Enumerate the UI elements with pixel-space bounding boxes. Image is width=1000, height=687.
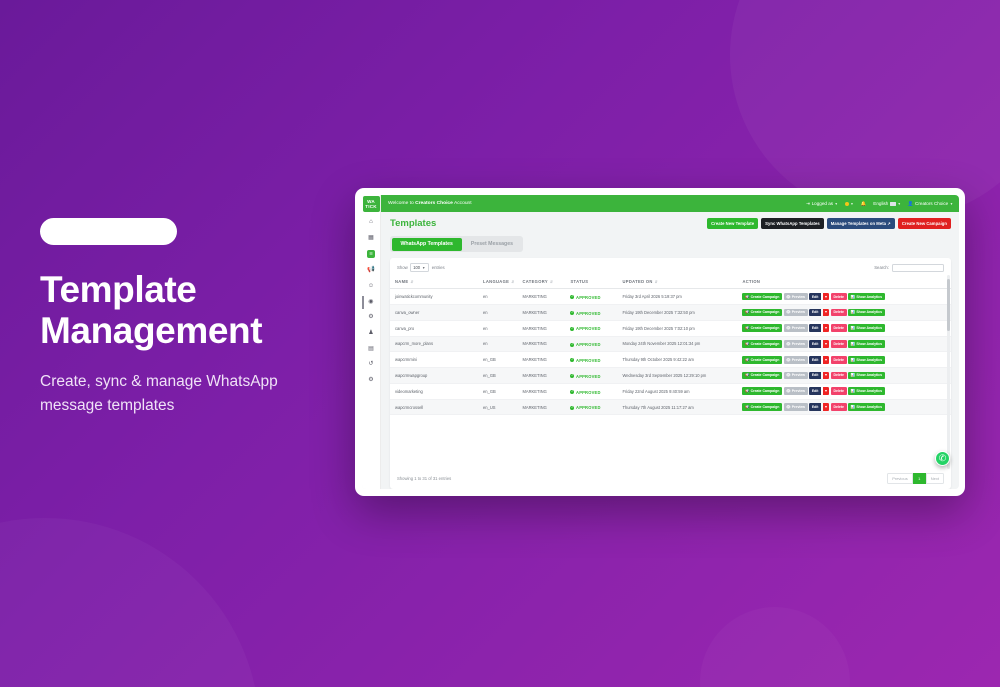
entries-select[interactable]: 100▼ (410, 263, 429, 272)
eye-icon: 👁 (786, 342, 790, 346)
column-header-action: ACTION (737, 275, 951, 289)
show-entries-control: Show 100▼ entries (397, 263, 445, 272)
promo-badge (40, 218, 177, 245)
create-campaign-label: Create Campaign (751, 405, 780, 409)
table-controls: Show 100▼ entries Search: (390, 258, 951, 275)
entries-label: entries (432, 265, 445, 270)
sidebar-item-contacts[interactable]: ☺ (362, 283, 380, 289)
check-icon: ✓ (570, 343, 574, 347)
show-analytics-label: Show Analytics (856, 373, 882, 377)
preview-button[interactable]: 👁Preview (784, 387, 808, 395)
show-analytics-label: Show Analytics (856, 342, 882, 346)
cell-status: ✓APPROVED (565, 336, 617, 352)
row-actions: 📢Create Campaign👁PreviewEdit▼Delete📊Show… (742, 372, 948, 380)
delete-label: Delete (833, 342, 844, 346)
edit-label: Edit (812, 358, 819, 362)
sort-icon: ⇵ (655, 280, 658, 284)
cell-name: wapcrm_more_plans (390, 336, 478, 352)
topbar: Welcome to Creators Choice Account ⇥Logg… (381, 195, 959, 212)
sort-icon: ⇵ (410, 280, 413, 284)
grid-icon: ▦ (368, 235, 374, 241)
background-circle-bottom-left (0, 518, 260, 687)
chat-icon: ◉ (368, 299, 373, 305)
table-row: wapcrmminien_GBMARKETING✓APPROVEDThursda… (390, 352, 951, 368)
create-campaign-button[interactable]: 📢Create Campaign (742, 324, 782, 332)
create-campaign-button[interactable]: 📢Create Campaign (742, 372, 782, 380)
edit-dropdown-toggle[interactable]: ▼ (823, 309, 830, 317)
cell-language: en_US (478, 399, 517, 415)
delete-button[interactable]: Delete (831, 309, 847, 317)
cell-updated-on: Thursday 9th October 2025 9:42:22 am (617, 352, 737, 368)
user-menu[interactable]: 👤Creators Choice▼ (908, 201, 953, 207)
edit-label: Edit (812, 310, 819, 314)
cell-action: 📢Create Campaign👁PreviewEdit▼Delete📊Show… (737, 336, 951, 352)
show-analytics-button[interactable]: 📊Show Analytics (848, 293, 884, 301)
entries-info: Showing 1 to 31 of 31 entries (397, 476, 451, 481)
megaphone-icon: 📢 (745, 389, 749, 393)
create-new-template-button[interactable]: Create New Template (707, 218, 758, 228)
cell-action: 📢Create Campaign👁PreviewEdit▼Delete📊Show… (737, 383, 951, 399)
column-header-category[interactable]: CATEGORY⇵ (517, 275, 565, 289)
scrollbar-thumb[interactable] (947, 279, 950, 331)
status-label: APPROVED (576, 295, 601, 300)
table-row: joinwatickcommunityenMARKETING✓APPROVEDF… (390, 289, 951, 305)
cell-name: wapcrmcrossell (390, 399, 478, 415)
status-badge: ✓APPROVED (570, 342, 600, 347)
column-label-action: ACTION (742, 279, 760, 284)
delete-label: Delete (833, 389, 844, 393)
status-label: APPROVED (576, 405, 601, 410)
status-badge: ✓APPROVED (570, 358, 600, 363)
megaphone-icon: 📢 (745, 342, 749, 346)
show-analytics-label: Show Analytics (856, 326, 882, 330)
delete-button[interactable]: Delete (831, 293, 847, 301)
pagination-next[interactable]: Next (926, 473, 944, 484)
cell-language: en_GB (478, 383, 517, 399)
welcome-suffix: Account (453, 201, 472, 206)
create-campaign-button[interactable]: 📢Create Campaign (742, 387, 782, 395)
theme-menu[interactable]: ▼ (845, 202, 854, 206)
status-badge: ✓APPROVED (570, 326, 600, 331)
show-analytics-button[interactable]: 📊Show Analytics (848, 309, 884, 317)
pagination-previous[interactable]: Previous (887, 473, 913, 484)
sidebar-item-grid[interactable]: ▦ (362, 235, 380, 241)
user-icon: 👤 (908, 201, 914, 207)
sidebar-item-chats[interactable]: ◉ (362, 299, 380, 305)
chevron-down-icon: ▼ (898, 202, 901, 206)
status-label: APPROVED (576, 311, 601, 316)
create-campaign-label: Create Campaign (751, 310, 780, 314)
sidebar: WA TICK ⌂ ▦ ☰ 📢 ☺ ◉ ⚙ ♟ ▤ ↺ ⚙ (362, 195, 381, 489)
status-label: APPROVED (576, 374, 601, 379)
preview-button[interactable]: 👁Preview (784, 324, 808, 332)
edit-button[interactable]: Edit (809, 403, 821, 411)
cell-updated-on: Friday 3rd April 2026 5:19:37 pm (617, 289, 737, 305)
show-analytics-button[interactable]: 📊Show Analytics (848, 372, 884, 380)
show-analytics-label: Show Analytics (856, 405, 882, 409)
sidebar-item-history[interactable]: ↺ (362, 361, 380, 367)
edit-dropdown-toggle[interactable]: ▼ (823, 324, 830, 332)
check-icon: ✓ (570, 295, 574, 299)
table-body: joinwatickcommunityenMARKETING✓APPROVEDF… (390, 289, 951, 415)
chevron-down-icon: ▼ (850, 202, 853, 206)
logged-as-label: Logged as (812, 201, 833, 206)
cell-name: joinwatickcommunity (390, 289, 478, 305)
edit-dropdown-toggle[interactable]: ▼ (823, 356, 830, 364)
cell-name: wapcrmmini (390, 352, 478, 368)
edit-dropdown-toggle[interactable]: ▼ (823, 293, 830, 301)
edit-button[interactable]: Edit (809, 356, 821, 364)
cell-language: en (478, 304, 517, 320)
caret-down-icon: ▼ (824, 405, 827, 409)
delete-label: Delete (833, 310, 844, 314)
table-scroll-region: NAME⇵ LANGUAGE⇵ CATEGORY⇵ STATUS UPDATED… (390, 275, 951, 468)
sidebar-item-campaigns[interactable]: 📢 (362, 267, 380, 273)
column-header-status[interactable]: STATUS (565, 275, 617, 289)
check-icon: ✓ (570, 358, 574, 362)
caret-down-icon: ▼ (824, 373, 827, 377)
create-campaign-button[interactable]: 📢Create Campaign (742, 403, 782, 411)
tab-bar: WhatsApp Templates Preset Messages (390, 236, 523, 252)
user-label: Creators Choice (915, 201, 948, 206)
edit-label: Edit (812, 295, 819, 299)
templates-icon: ☰ (367, 250, 375, 257)
cell-language: en_GB (478, 368, 517, 384)
welcome-message: Welcome to Creators Choice Account (388, 201, 472, 206)
cell-status: ✓APPROVED (565, 383, 617, 399)
edit-label: Edit (812, 389, 819, 393)
people-icon: ☺ (368, 283, 374, 289)
check-icon: ✓ (570, 311, 574, 315)
promo-panel: Template Management Create, sync & manag… (40, 218, 340, 418)
create-campaign-label: Create Campaign (751, 342, 780, 346)
megaphone-icon: 📢 (745, 310, 749, 314)
chart-icon: 📊 (851, 295, 855, 299)
row-actions: 📢Create Campaign👁PreviewEdit▼Delete📊Show… (742, 356, 948, 364)
cell-category: MARKETING (517, 289, 565, 305)
preview-button[interactable]: 👁Preview (784, 372, 808, 380)
cell-category: MARKETING (517, 399, 565, 415)
edit-button[interactable]: Edit (809, 387, 821, 395)
preview-label: Preview (792, 405, 805, 409)
create-campaign-button[interactable]: 📢Create Campaign (742, 340, 782, 348)
promo-subline: Create, sync & manage WhatsApp message t… (40, 370, 340, 418)
delete-button[interactable]: Delete (831, 356, 847, 364)
delete-label: Delete (833, 358, 844, 362)
show-analytics-label: Show Analytics (856, 310, 882, 314)
delete-label: Delete (833, 405, 844, 409)
show-analytics-label: Show Analytics (856, 358, 882, 362)
app-logo: WA TICK (363, 196, 380, 212)
page-title: Templates (390, 218, 436, 229)
cell-updated-on: Monday 24th November 2025 12:01:34 pm (617, 336, 737, 352)
app-viewport: WA TICK ⌂ ▦ ☰ 📢 ☺ ◉ ⚙ ♟ ▤ ↺ ⚙ Welcome to… (362, 195, 959, 489)
create-campaign-label: Create Campaign (751, 373, 780, 377)
cell-category: MARKETING (517, 304, 565, 320)
edit-label: Edit (812, 326, 819, 330)
cell-updated-on: Thursday 7th August 2025 11:17:27 am (617, 399, 737, 415)
pagination: Previous 1 Next (887, 473, 944, 484)
create-campaign-label: Create Campaign (751, 358, 780, 362)
edit-button[interactable]: Edit (809, 309, 821, 317)
table-scrollbar[interactable] (947, 275, 950, 468)
column-label-status: STATUS (570, 279, 588, 284)
cell-status: ✓APPROVED (565, 304, 617, 320)
delete-label: Delete (833, 326, 844, 330)
create-campaign-label: Create Campaign (751, 389, 780, 393)
search-control: Search: (874, 264, 944, 272)
cell-action: 📢Create Campaign👁PreviewEdit▼Delete📊Show… (737, 399, 951, 415)
preview-button[interactable]: 👁Preview (784, 356, 808, 364)
manage-templates-label: Manage Templates on Meta (831, 221, 886, 226)
cell-status: ✓APPROVED (565, 352, 617, 368)
delete-button[interactable]: Delete (831, 403, 847, 411)
delete-button[interactable]: Delete (831, 387, 847, 395)
show-analytics-button[interactable]: 📊Show Analytics (848, 340, 884, 348)
cell-category: MARKETING (517, 352, 565, 368)
main-column: Welcome to Creators Choice Account ⇥Logg… (381, 195, 959, 489)
edit-dropdown-toggle[interactable]: ▼ (823, 387, 830, 395)
column-label-category: CATEGORY (522, 279, 548, 284)
brightness-icon (845, 202, 849, 206)
sidebar-item-reports[interactable]: ▤ (362, 346, 380, 352)
home-icon: ⌂ (369, 219, 373, 225)
preview-button[interactable]: 👁Preview (784, 340, 808, 348)
sync-whatsapp-templates-button[interactable]: Sync WhatsApp Templates (761, 218, 824, 228)
caret-down-icon: ▼ (824, 310, 827, 314)
eye-icon: 👁 (786, 358, 790, 362)
edit-button[interactable]: Edit (809, 340, 821, 348)
history-icon: ↺ (368, 361, 373, 367)
show-analytics-button[interactable]: 📊Show Analytics (848, 387, 884, 395)
create-campaign-label: Create Campaign (751, 326, 780, 330)
chevron-down-icon: ▼ (422, 266, 425, 270)
team-icon: ♟ (368, 330, 374, 336)
column-header-updated-on[interactable]: UPDATED ON⇵ (617, 275, 737, 289)
flag-icon (890, 202, 896, 206)
megaphone-icon: 📢 (367, 267, 375, 273)
status-label: APPROVED (576, 358, 601, 363)
show-analytics-label: Show Analytics (856, 389, 882, 393)
chart-icon: 📊 (851, 405, 855, 409)
cell-category: MARKETING (517, 383, 565, 399)
search-label: Search: (874, 265, 889, 270)
cell-updated-on: Friday 22nd August 2025 9:40:59 am (617, 383, 737, 399)
topbar-nav: ⇥Logged as▼ ▼ 🔔 English▼ 👤Creators Choic… (806, 201, 953, 207)
sidebar-item-dashboard[interactable]: ⌂ (362, 219, 380, 225)
cell-category: MARKETING (517, 336, 565, 352)
cell-name: canva_pro (390, 320, 478, 336)
logo-line-2: TICK (363, 204, 380, 209)
column-header-name[interactable]: NAME⇵ (390, 275, 478, 289)
status-label: APPROVED (576, 326, 601, 331)
cell-status: ✓APPROVED (565, 320, 617, 336)
eye-icon: 👁 (786, 389, 790, 393)
show-analytics-button[interactable]: 📊Show Analytics (848, 324, 884, 332)
check-icon: ✓ (570, 374, 574, 378)
caret-down-icon: ▼ (824, 358, 827, 362)
robot-icon: ⚙ (368, 314, 374, 320)
whatsapp-float-button[interactable]: ✆ (935, 451, 950, 466)
status-badge: ✓APPROVED (570, 390, 600, 395)
show-analytics-button[interactable]: 📊Show Analytics (848, 403, 884, 411)
row-actions: 📢Create Campaign👁PreviewEdit▼Delete📊Show… (742, 324, 948, 332)
row-actions: 📢Create Campaign👁PreviewEdit▼Delete📊Show… (742, 309, 948, 317)
megaphone-icon: 📢 (745, 405, 749, 409)
edit-label: Edit (812, 373, 819, 377)
eye-icon: 👁 (786, 295, 790, 299)
create-new-campaign-button[interactable]: Create New Campaign (898, 218, 951, 228)
preview-button[interactable]: 👁Preview (784, 309, 808, 317)
row-actions: 📢Create Campaign👁PreviewEdit▼Delete📊Show… (742, 293, 948, 301)
delete-button[interactable]: Delete (831, 324, 847, 332)
eye-icon: 👁 (786, 326, 790, 330)
row-actions: 📢Create Campaign👁PreviewEdit▼Delete📊Show… (742, 387, 948, 395)
page-header: Templates Create New Template Sync Whats… (390, 218, 951, 229)
cell-status: ✓APPROVED (565, 399, 617, 415)
table-row: wapcrmcrossellen_USMARKETING✓APPROVEDThu… (390, 399, 951, 415)
background-circle-bottom-right (700, 607, 850, 687)
account-name: Creators Choice (415, 201, 453, 206)
manage-templates-on-meta-button[interactable]: Manage Templates on Meta ↗ (827, 218, 895, 228)
cell-updated-on: Wednesday 3rd September 2025 12:29:10 pm (617, 368, 737, 384)
logged-as-menu[interactable]: ⇥Logged as▼ (806, 201, 838, 207)
edit-label: Edit (812, 405, 819, 409)
table-row: videomarketingen_GBMARKETING✓APPROVEDFri… (390, 383, 951, 399)
delete-label: Delete (833, 295, 844, 299)
show-analytics-button[interactable]: 📊Show Analytics (848, 356, 884, 364)
cell-name: videomarketing (390, 383, 478, 399)
report-icon: ▤ (368, 346, 374, 352)
language-label: English (873, 201, 888, 206)
language-menu[interactable]: English▼ (873, 201, 900, 206)
row-actions: 📢Create Campaign👁PreviewEdit▼Delete📊Show… (742, 340, 948, 348)
table-row: canva_proenMARKETING✓APPROVEDFriday 19th… (390, 320, 951, 336)
cell-name: wapcrmwapgroup (390, 368, 478, 384)
table-row: wapcrm_more_plansenMARKETING✓APPROVEDMon… (390, 336, 951, 352)
status-badge: ✓APPROVED (570, 405, 600, 410)
create-campaign-button[interactable]: 📢Create Campaign (742, 293, 782, 301)
preview-button[interactable]: 👁Preview (784, 403, 808, 411)
entries-value: 100 (413, 265, 420, 270)
sort-icon: ⇵ (550, 280, 553, 284)
cell-status: ✓APPROVED (565, 368, 617, 384)
caret-down-icon: ▼ (824, 326, 827, 330)
tab-preset-messages[interactable]: Preset Messages (462, 238, 522, 251)
pagination-page-1[interactable]: 1 (913, 473, 926, 484)
cell-updated-on: Friday 19th December 2025 7:32:50 pm (617, 304, 737, 320)
notifications-button[interactable]: 🔔 (861, 201, 867, 207)
chevron-down-icon: ▼ (835, 202, 838, 206)
eye-icon: 👁 (786, 405, 790, 409)
bell-icon: 🔔 (861, 201, 867, 207)
edit-button[interactable]: Edit (809, 293, 821, 301)
column-header-language[interactable]: LANGUAGE⇵ (478, 275, 517, 289)
edit-dropdown-toggle[interactable]: ▼ (823, 372, 830, 380)
edit-dropdown-toggle[interactable]: ▼ (823, 340, 830, 348)
preview-label: Preview (792, 326, 805, 330)
table-header-row: NAME⇵ LANGUAGE⇵ CATEGORY⇵ STATUS UPDATED… (390, 275, 951, 289)
table-head: NAME⇵ LANGUAGE⇵ CATEGORY⇵ STATUS UPDATED… (390, 275, 951, 289)
delete-label: Delete (833, 373, 844, 377)
cell-language: en (478, 289, 517, 305)
edit-label: Edit (812, 342, 819, 346)
templates-table: NAME⇵ LANGUAGE⇵ CATEGORY⇵ STATUS UPDATED… (390, 275, 951, 415)
cell-action: 📢Create Campaign👁PreviewEdit▼Delete📊Show… (737, 304, 951, 320)
cell-category: MARKETING (517, 320, 565, 336)
column-label-language: LANGUAGE (483, 279, 509, 284)
status-badge: ✓APPROVED (570, 295, 600, 300)
status-label: APPROVED (576, 390, 601, 395)
external-link-icon: ↗ (887, 221, 891, 226)
caret-down-icon: ▼ (824, 295, 827, 299)
preview-button[interactable]: 👁Preview (784, 293, 808, 301)
whatsapp-icon: ✆ (939, 453, 947, 464)
app-window: WA TICK ⌂ ▦ ☰ 📢 ☺ ◉ ⚙ ♟ ▤ ↺ ⚙ Welcome to… (355, 188, 965, 496)
delete-button[interactable]: Delete (831, 340, 847, 348)
cell-name: canva_owner (390, 304, 478, 320)
chart-icon: 📊 (851, 310, 855, 314)
chevron-down-icon: ▼ (950, 202, 953, 206)
megaphone-icon: 📢 (745, 358, 749, 362)
delete-button[interactable]: Delete (831, 372, 847, 380)
background-circle-top-right (730, 0, 1000, 220)
show-label: Show (397, 265, 408, 270)
promo-headline: Template Management (40, 269, 340, 352)
edit-button[interactable]: Edit (809, 324, 821, 332)
preview-label: Preview (792, 389, 805, 393)
cell-action: 📢Create Campaign👁PreviewEdit▼Delete📊Show… (737, 289, 951, 305)
create-campaign-button[interactable]: 📢Create Campaign (742, 356, 782, 364)
sidebar-items: ⌂ ▦ ☰ 📢 ☺ ◉ ⚙ ♟ ▤ ↺ ⚙ (362, 219, 380, 383)
preview-label: Preview (792, 373, 805, 377)
sidebar-item-templates[interactable]: ☰ (362, 250, 380, 257)
caret-down-icon: ▼ (824, 389, 827, 393)
cell-language: en (478, 320, 517, 336)
sidebar-item-bots[interactable]: ⚙ (362, 314, 380, 320)
caret-down-icon: ▼ (824, 342, 827, 346)
create-campaign-label: Create Campaign (751, 295, 780, 299)
status-badge: ✓APPROVED (570, 311, 600, 316)
tab-whatsapp-templates[interactable]: WhatsApp Templates (392, 238, 462, 251)
preview-label: Preview (792, 295, 805, 299)
edit-dropdown-toggle[interactable]: ▼ (823, 403, 830, 411)
check-icon: ✓ (570, 406, 574, 410)
page-action-buttons: Create New Template Sync WhatsApp Templa… (707, 218, 951, 228)
search-input[interactable] (892, 264, 944, 272)
create-campaign-button[interactable]: 📢Create Campaign (742, 309, 782, 317)
sidebar-item-team[interactable]: ♟ (362, 330, 380, 336)
megaphone-icon: 📢 (745, 373, 749, 377)
table-row: canva_ownerenMARKETING✓APPROVEDFriday 19… (390, 304, 951, 320)
welcome-prefix: Welcome to (388, 201, 415, 206)
table-footer: Showing 1 to 31 of 31 entries Previous 1… (390, 469, 951, 489)
row-actions: 📢Create Campaign👁PreviewEdit▼Delete📊Show… (742, 403, 948, 411)
sidebar-item-settings[interactable]: ⚙ (362, 377, 380, 383)
cell-language: en (478, 336, 517, 352)
show-analytics-label: Show Analytics (856, 295, 882, 299)
check-icon: ✓ (570, 327, 574, 331)
login-icon: ⇥ (806, 201, 810, 207)
chart-icon: 📊 (851, 389, 855, 393)
chart-icon: 📊 (851, 326, 855, 330)
cell-updated-on: Friday 19th December 2025 7:02:10 pm (617, 320, 737, 336)
chart-icon: 📊 (851, 342, 855, 346)
cell-status: ✓APPROVED (565, 289, 617, 305)
megaphone-icon: 📢 (745, 295, 749, 299)
eye-icon: 👁 (786, 373, 790, 377)
edit-button[interactable]: Edit (809, 372, 821, 380)
